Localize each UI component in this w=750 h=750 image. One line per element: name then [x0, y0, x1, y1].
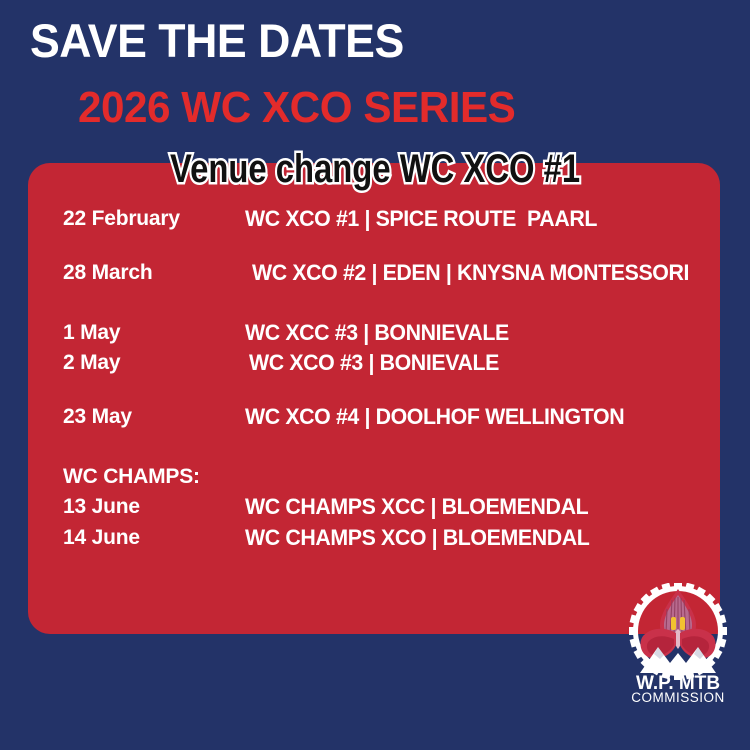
wc-champs-heading: WC CHAMPS: — [63, 463, 200, 491]
row-event: WC XCC #3 | BONNIEVALE — [245, 319, 509, 347]
page-title: SAVE THE DATES — [30, 17, 404, 64]
row-date: 13 June — [63, 493, 140, 521]
row-date: 28 March — [63, 259, 152, 287]
logo-line2: COMMISSION — [631, 690, 725, 705]
row-event: WC XCO #4 | DOOLHOF WELLINGTON — [245, 403, 624, 431]
row-event: WC XCO #1 | SPICE ROUTE PAARL — [245, 205, 597, 233]
row-date: 1 May — [63, 319, 120, 347]
row-date: 23 May — [63, 403, 132, 431]
row-date: 2 May — [63, 349, 120, 377]
list-item: 13 June WC CHAMPS XCC | BLOEMENDAL — [28, 493, 720, 523]
list-item: 1 May WC XCC #3 | BONNIEVALE — [28, 319, 720, 349]
series-subtitle: 2026 WC XCO SERIES — [78, 86, 515, 130]
list-item: 23 May WC XCO #4 | DOOLHOF WELLINGTON — [28, 403, 720, 433]
list-item: 2 May WC XCO #3 | BONIEVALE — [28, 349, 720, 379]
row-event: WC CHAMPS XCO | BLOEMENDAL — [245, 524, 589, 552]
list-item: 14 June WC CHAMPS XCO | BLOEMENDAL — [28, 524, 720, 554]
row-event: WC CHAMPS XCC | BLOEMENDAL — [245, 493, 588, 521]
row-event: WC XCO #3 | BONIEVALE — [249, 349, 499, 377]
row-date: 14 June — [63, 524, 140, 552]
row-date: 22 February — [63, 205, 180, 233]
list-item: 22 February WC XCO #1 | SPICE ROUTE PAAR… — [28, 205, 720, 235]
row-event: WC XCO #2 | EDEN | KNYSNA MONTESSORI — [252, 259, 689, 287]
section-heading-row: WC CHAMPS: — [28, 463, 720, 493]
list-item: 28 March WC XCO #2 | EDEN | KNYSNA MONTE… — [28, 259, 720, 289]
wp-mtb-commission-logo: W.P. MTB COMMISSION — [614, 583, 742, 705]
poster-canvas: SAVE THE DATES 2026 WC XCO SERIES Venue … — [0, 0, 750, 750]
